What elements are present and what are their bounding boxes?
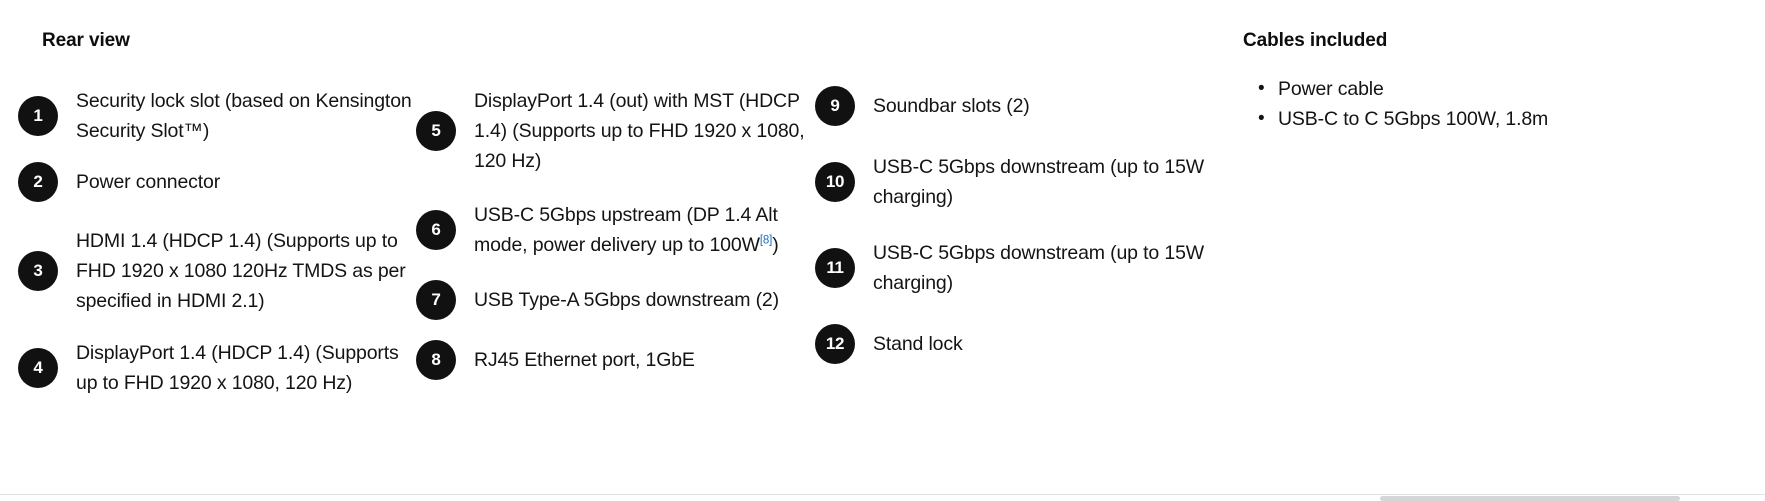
callout-badge-2: 2 bbox=[18, 162, 58, 202]
callout-label-9: Soundbar slots (2) bbox=[873, 91, 1235, 121]
callout-label-10: USB-C 5Gbps downstream (up to 15W chargi… bbox=[873, 152, 1235, 212]
callout-badge-4: 4 bbox=[18, 348, 58, 388]
list-item: USB-C to C 5Gbps 100W, 1.8m bbox=[1278, 104, 1765, 134]
callout-badge-9: 9 bbox=[815, 86, 855, 126]
callout-label-1: Security lock slot (based on Kensington … bbox=[76, 86, 418, 146]
callout-label-6-tail: ) bbox=[772, 234, 778, 256]
cables-included-list: Power cable USB-C to C 5Gbps 100W, 1.8m bbox=[1250, 74, 1765, 134]
callout-column-2: 5 DisplayPort 1.4 (out) with MST (HDCP 1… bbox=[416, 86, 816, 394]
callout-label-8: RJ45 Ethernet port, 1GbE bbox=[474, 345, 816, 375]
callout-item-5: 5 DisplayPort 1.4 (out) with MST (HDCP 1… bbox=[416, 86, 816, 176]
page-title-rear-view: Rear view bbox=[42, 30, 130, 52]
callout-badge-12: 12 bbox=[815, 324, 855, 364]
callout-label-12: Stand lock bbox=[873, 329, 1235, 359]
callout-badge-11: 11 bbox=[815, 248, 855, 288]
callout-label-7: USB Type-A 5Gbps downstream (2) bbox=[474, 285, 816, 315]
callout-badge-5: 5 bbox=[416, 111, 456, 151]
callout-badge-10: 10 bbox=[815, 162, 855, 202]
callout-item-10: 10 USB-C 5Gbps downstream (up to 15W cha… bbox=[815, 152, 1235, 212]
callout-item-3: 3 HDMI 1.4 (HDCP 1.4) (Supports up to FH… bbox=[18, 226, 418, 316]
callout-item-6: 6 USB-C 5Gbps upstream (DP 1.4 Alt mode,… bbox=[416, 200, 816, 260]
callout-item-9: 9 Soundbar slots (2) bbox=[815, 86, 1235, 126]
callout-label-2: Power connector bbox=[76, 167, 418, 197]
callout-item-1: 1 Security lock slot (based on Kensingto… bbox=[18, 86, 418, 146]
callout-item-8: 8 RJ45 Ethernet port, 1GbE bbox=[416, 340, 816, 380]
callout-column-1: 1 Security lock slot (based on Kensingto… bbox=[18, 86, 418, 412]
footnote-reference-8-link[interactable]: [8] bbox=[760, 235, 772, 247]
callout-label-5: DisplayPort 1.4 (out) with MST (HDCP 1.4… bbox=[474, 86, 816, 176]
callout-label-11: USB-C 5Gbps downstream (up to 15W chargi… bbox=[873, 238, 1235, 298]
callout-badge-8: 8 bbox=[416, 340, 456, 380]
callout-item-7: 7 USB Type-A 5Gbps downstream (2) bbox=[416, 280, 816, 320]
callout-badge-3: 3 bbox=[18, 251, 58, 291]
callout-item-12: 12 Stand lock bbox=[815, 324, 1235, 364]
callout-label-6-main: USB-C 5Gbps upstream (DP 1.4 Alt mode, p… bbox=[474, 204, 778, 256]
page-title-cables-included: Cables included bbox=[1243, 30, 1387, 52]
callout-label-6: USB-C 5Gbps upstream (DP 1.4 Alt mode, p… bbox=[474, 200, 816, 260]
horizontal-divider bbox=[0, 494, 1765, 495]
callout-badge-6: 6 bbox=[416, 210, 456, 250]
callout-label-4: DisplayPort 1.4 (HDCP 1.4) (Supports up … bbox=[76, 338, 418, 398]
callout-column-3: 9 Soundbar slots (2) 10 USB-C 5Gbps down… bbox=[815, 86, 1235, 378]
callout-label-3: HDMI 1.4 (HDCP 1.4) (Supports up to FHD … bbox=[76, 226, 418, 316]
callout-item-11: 11 USB-C 5Gbps downstream (up to 15W cha… bbox=[815, 238, 1235, 298]
callout-badge-1: 1 bbox=[18, 96, 58, 136]
spec-callout-page: Rear view 1 Security lock slot (based on… bbox=[0, 0, 1765, 501]
callout-badge-7: 7 bbox=[416, 280, 456, 320]
callout-item-2: 2 Power connector bbox=[18, 162, 418, 202]
horizontal-scrollbar-thumb[interactable] bbox=[1380, 496, 1680, 501]
list-item: Power cable bbox=[1278, 74, 1765, 104]
callout-item-4: 4 DisplayPort 1.4 (HDCP 1.4) (Supports u… bbox=[18, 338, 418, 398]
